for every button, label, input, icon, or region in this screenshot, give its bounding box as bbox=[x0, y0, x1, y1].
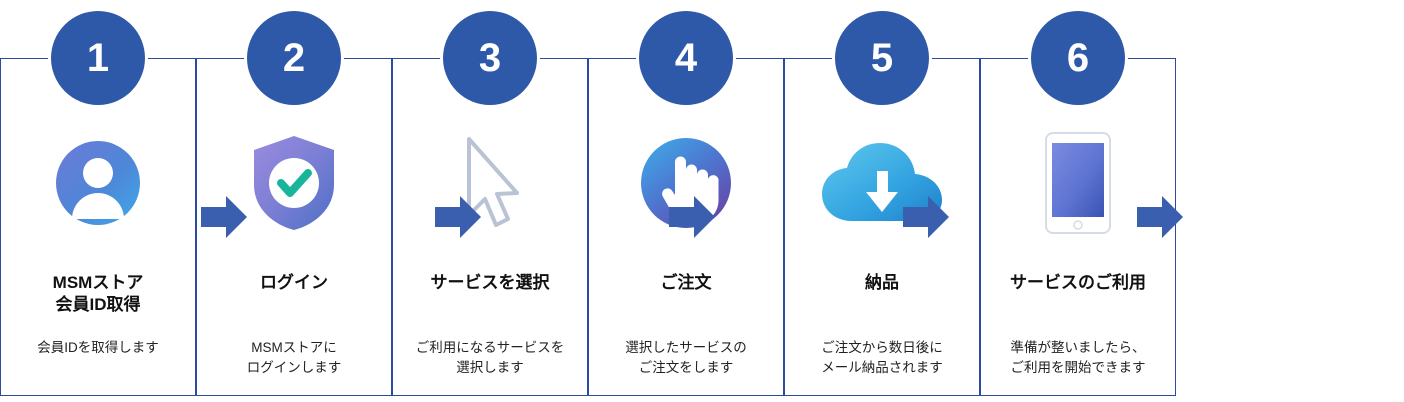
step-6-desc: 準備が整いましたら、 ご利用を開始できます bbox=[986, 338, 1170, 377]
step-3-desc: ご利用になるサービスを 選択します bbox=[398, 338, 582, 377]
step-1-title: MSMストア 会員ID取得 bbox=[6, 272, 190, 316]
step-5-title: 納品 bbox=[790, 272, 974, 294]
cloud-download-icon bbox=[784, 120, 980, 245]
step-1-number-badge: 1 bbox=[48, 8, 148, 108]
process-flow-diagram: 1 MSMストア 会員ID取得 会員I bbox=[0, 0, 1404, 402]
step-3-number-badge: 3 bbox=[440, 8, 540, 108]
step-3: 3 サービスを選択 ご利用になるサービスを 選択します bbox=[392, 0, 588, 402]
step-5: 5 納品 ご注文から数日後に メール納品されます bbox=[784, 0, 980, 402]
step-1: 1 MSMストア 会員ID取得 会員I bbox=[0, 0, 196, 402]
step-4-number-badge: 4 bbox=[636, 8, 736, 108]
step-5-desc: ご注文から数日後に メール納品されます bbox=[790, 338, 974, 377]
user-avatar-icon bbox=[0, 120, 196, 245]
arrow-3-to-4 bbox=[669, 196, 715, 238]
step-1-desc: 会員IDを取得します bbox=[6, 338, 190, 358]
step-6-title: サービスのご利用 bbox=[986, 272, 1170, 294]
step-2-number-badge: 2 bbox=[244, 8, 344, 108]
step-4-title: ご注文 bbox=[594, 272, 778, 294]
step-6-number-badge: 6 bbox=[1028, 8, 1128, 108]
step-5-number-badge: 5 bbox=[832, 8, 932, 108]
step-2-desc: MSMストアに ログインします bbox=[202, 338, 386, 377]
step-2-title: ログイン bbox=[202, 272, 386, 294]
arrow-5-to-6 bbox=[1137, 196, 1183, 238]
step-3-title: サービスを選択 bbox=[398, 272, 582, 294]
arrow-4-to-5 bbox=[903, 196, 949, 238]
mouse-cursor-icon bbox=[392, 120, 588, 245]
arrow-2-to-3 bbox=[435, 196, 481, 238]
step-4-desc: 選択したサービスの ご注文をします bbox=[594, 338, 778, 377]
arrow-1-to-2 bbox=[201, 196, 247, 238]
